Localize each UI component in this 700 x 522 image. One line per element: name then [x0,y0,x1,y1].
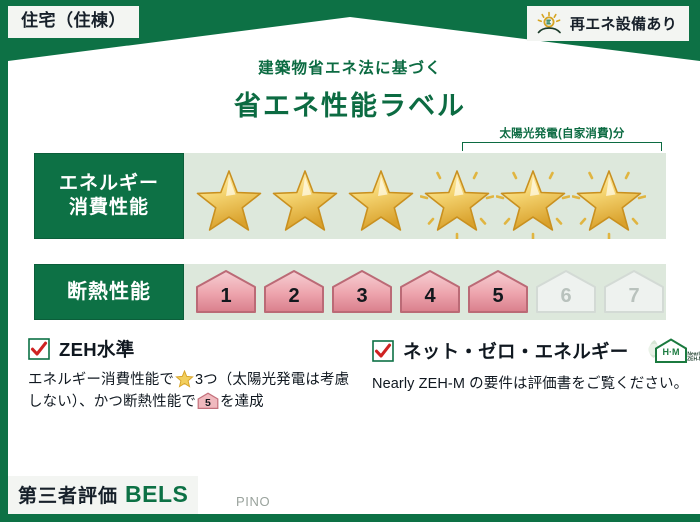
zeh-standard-heading: ZEH水準 [59,336,135,362]
title-subtitle: 建築物省エネ法に基づく [18,56,682,78]
insulation-level-number: 6 [534,286,598,306]
insulation-performance-body: 1234567 [184,264,666,320]
net-zero-heading-row: ネット・ゼロ・エネルギー H·M Nearly ZEH-M [372,336,700,366]
solar-contribution-bracket: 太陽光発電(自家消費)分 [462,125,662,151]
pino-label: PINO [236,494,270,509]
svg-text:5: 5 [205,397,211,409]
insulation-level-icon: 2 [262,268,326,316]
energy-performance-body: 太陽光発電(自家消費)分 [184,153,666,239]
star-icon [496,165,570,235]
zeh-standard-description: エネルギー消費性能で3つ（太陽光発電は考慮しない）、かつ断熱性能で5を達成 [28,369,358,414]
bels-energy-label-card: 住宅（住棟） 再エネ設備あり 建築物省エネ法に基づく 省エネ性能ラベル エネルギ [0,0,700,522]
star-icon [192,165,266,235]
criteria-columns: ZEH水準 エネルギー消費性能で3つ（太陽光発電は考慮しない）、かつ断熱性能で5… [28,336,672,414]
insulation-performance-row: 断熱性能 1234567 [34,264,666,320]
insulation-level-number: 7 [602,286,666,306]
insulation-performance-label: 断熱性能 [34,264,184,320]
insulation-level-group: 1234567 [184,268,666,316]
star-icon [420,165,494,235]
energy-label-line1: エネルギー [59,172,159,196]
net-zero-description: Nearly ZEH-M の要件は評価書をご覧ください。 [372,373,700,395]
checkbox-checked-icon [28,338,50,360]
title-block: 建築物省エネ法に基づく 省エネ性能ラベル [18,40,682,123]
svg-text:H·M: H·M [662,347,679,357]
solar-bracket-label: 太陽光発電(自家消費)分 [462,125,662,141]
star-icon [175,370,194,388]
zeh-desc-part1: エネルギー消費性能で [28,372,174,388]
zeh-standard-column: ZEH水準 エネルギー消費性能で3つ（太陽光発電は考慮しない）、かつ断熱性能で5… [28,336,358,414]
third-party-evaluation-label: 第三者評価 [18,481,118,508]
net-zero-heading: ネット・ゼロ・エネルギー [403,338,629,364]
star-icon [344,165,418,235]
label-content-panel: 建築物省エネ法に基づく 省エネ性能ラベル エネルギー 消費性能 太陽光発電(自家… [18,40,682,462]
net-zero-energy-column: ネット・ゼロ・エネルギー H·M Nearly ZEH-M Nearly ZEH… [372,336,700,414]
insulation-level-icon: 5 [466,268,530,316]
page-title: 省エネ性能ラベル [18,84,682,123]
energy-label-line2: 消費性能 [69,196,149,220]
energy-performance-label: エネルギー 消費性能 [34,153,184,239]
checkbox-checked-icon [372,340,394,362]
insulation-level-number: 3 [330,286,394,306]
insulation-level-icon: 7 [602,268,666,316]
renewable-badge-label: 再エネ設備あり [570,13,677,34]
insulation-level-icon: 3 [330,268,394,316]
nearly-zeh-m-logo: H·M Nearly ZEH-M [642,336,700,366]
insulation-level-number: 5 [466,286,530,306]
renewable-energy-badge: 再エネ設備あり [527,6,689,41]
insulation-level-icon: 6 [534,268,598,316]
insulation-level-icon: 1 [194,268,258,316]
bels-footer-badge: 第三者評価 BELS [8,476,198,514]
evaluation-date: 評価日 2025年3月25日 [523,476,686,498]
insulation-label-text: 断熱性能 [67,280,151,305]
evaluation-meta: 評価日 2025年3月25日 b428076e-758a-4fd9 [523,476,686,512]
insulation-level-number: 4 [398,286,462,306]
zeh-desc-part3: を達成 [220,394,264,410]
insulation-level-inline-icon: 5 [197,392,219,410]
zeh-standard-heading-row: ZEH水準 [28,336,358,362]
insulation-level-number: 1 [194,286,258,306]
svg-text:ZEH-M: ZEH-M [687,357,700,363]
insulation-level-icon: 4 [398,268,462,316]
house-type-tag: 住宅（住棟） [8,6,139,38]
insulation-level-number: 2 [262,286,326,306]
bels-logo-text: BELS [125,481,188,508]
star-rating-group [184,165,666,235]
solar-sun-icon [536,11,563,36]
solar-bracket-line [462,142,662,151]
evaluation-uid: b428076e-758a-4fd9 [523,500,686,512]
star-icon [572,165,646,235]
star-icon [268,165,342,235]
energy-performance-row: エネルギー 消費性能 太陽光発電(自家消費)分 [34,153,666,239]
